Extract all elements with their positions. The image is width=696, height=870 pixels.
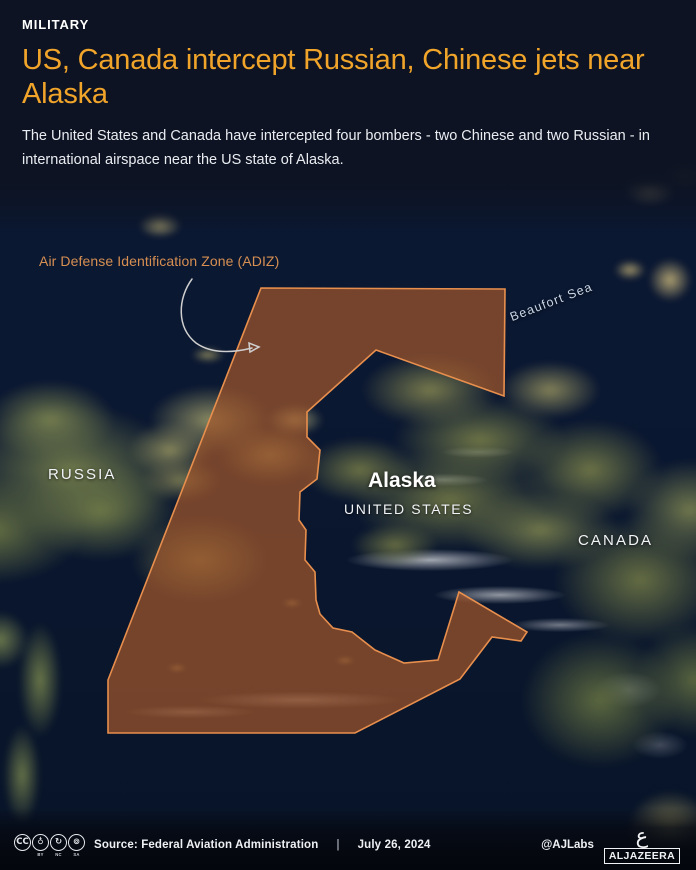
infographic-root: Air Defense Identification Zone (ADIZ) R… [0,0,696,870]
person-icon: ♁ [32,834,49,851]
footer-divider: | [336,839,339,851]
cc-icon: CC [14,834,31,851]
page-title: US, Canada intercept Russian, Chinese je… [22,43,662,111]
publication-date: July 26, 2024 [358,839,431,851]
cc-icon-wrap: CC [14,834,31,857]
aljazeera-wordmark: ALJAZEERA [604,848,680,864]
standfirst-text: The United States and Canada have interc… [22,125,652,172]
cc-nc-sublabel: NC [55,852,61,857]
cc-nc-wrap: ↻ NC [50,834,67,857]
aljazeera-calligraphy-icon: ع [636,826,649,846]
noncommercial-icon: ↻ [50,834,67,851]
source-attribution: Source: Federal Aviation Administration [94,839,318,851]
header: MILITARY US, Canada intercept Russian, C… [0,0,696,172]
footer: CC ♁ BY ↻ NC ⊚ SA Source: Federal Aviati… [0,820,696,870]
cc-by-wrap: ♁ BY [32,834,49,857]
sharealike-icon: ⊚ [68,834,85,851]
cc-sa-sublabel: SA [73,852,79,857]
cc-sa-wrap: ⊚ SA [68,834,85,857]
aljazeera-logo[interactable]: ع ALJAZEERA [604,826,680,864]
category-kicker: MILITARY [22,17,674,32]
cc-by-sublabel: BY [37,852,43,857]
creative-commons-badge[interactable]: CC ♁ BY ↻ NC ⊚ SA [14,834,85,857]
social-handle[interactable]: @AJLabs [541,839,594,851]
adiz-polygon[interactable] [108,288,527,733]
